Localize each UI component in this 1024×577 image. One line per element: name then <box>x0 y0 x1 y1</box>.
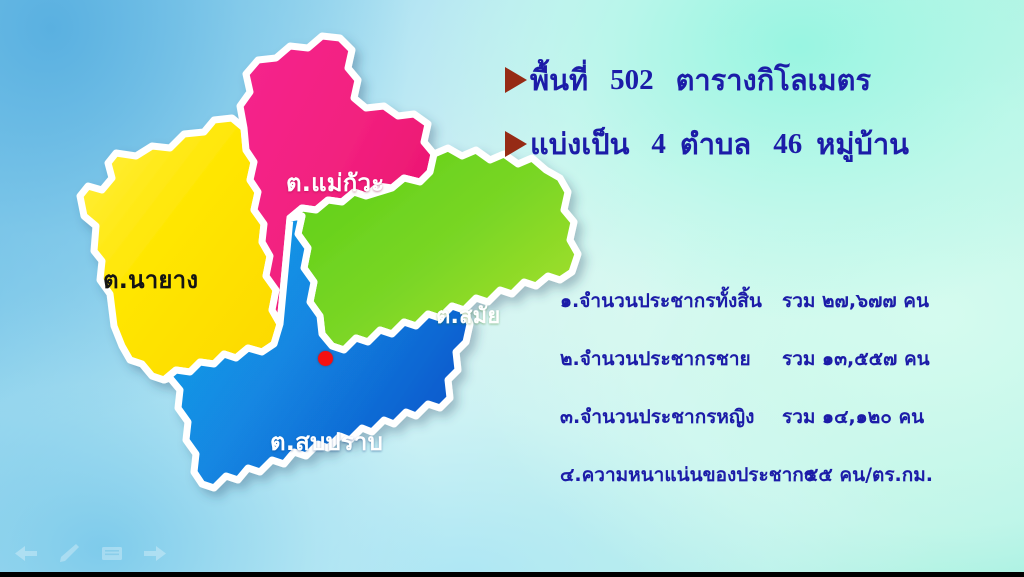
divisions-label: แบ่งเป็น <box>530 121 629 167</box>
location-marker-icon <box>318 351 333 366</box>
pen-tool-button[interactable] <box>57 543 81 563</box>
village-unit: หมู่บ้าน <box>816 121 909 167</box>
village-count: 46 <box>773 128 802 161</box>
stat-label-total-population: ๑.จำนวนประชากรทั้งสิ้น <box>560 286 782 316</box>
stat-value-population-density: ๕๕ คน/ตร.กม. <box>804 460 933 490</box>
area-label: พื้นที่ <box>530 57 588 103</box>
arrow-left-icon <box>14 543 38 563</box>
map-regions-group <box>80 36 578 488</box>
subdistrict-unit: ตำบล <box>680 121 751 167</box>
stat-label-female-population: ๓.จำนวนประชากรหญิง <box>560 402 782 432</box>
population-statistics: ๑.จำนวนประชากรทั้งสิ้น รวม ๒๗,๖๗๗ คน ๒.จ… <box>560 286 933 518</box>
stat-value-female-population: รวม ๑๔,๑๒๐ คน <box>782 402 924 432</box>
triangle-bullet-icon <box>505 131 527 157</box>
stat-row: ๓.จำนวนประชากรหญิง รวม ๑๔,๑๒๐ คน <box>560 402 933 460</box>
triangle-bullet-icon <box>505 67 527 93</box>
headline-row-area: พื้นที่ 502 ตารางกิโลเมตร <box>505 57 909 103</box>
presentation-controls <box>14 543 167 563</box>
menu-icon <box>100 543 124 563</box>
headline-block: พื้นที่ 502 ตารางกิโลเมตร แบ่งเป็น 4 ตำบ… <box>505 57 909 185</box>
headline-row-divisions: แบ่งเป็น 4 ตำบล 46 หมู่บ้าน <box>505 121 909 167</box>
stat-label-population-density: ๔.ความหนาแน่นของประชากร <box>560 460 804 490</box>
stat-label-male-population: ๒.จำนวนประชากรชาย <box>560 344 782 374</box>
area-value: 502 <box>610 64 654 97</box>
stat-row: ๑.จำนวนประชากรทั้งสิ้น รวม ๒๗,๖๗๗ คน <box>560 286 933 344</box>
stat-value-total-population: รวม ๒๗,๖๗๗ คน <box>782 286 929 316</box>
presentation-slide: ต.นายาง ต.แม่กัวะ ต.สมัย ต.สบปราบ พื้นที… <box>0 0 1024 577</box>
next-slide-button[interactable] <box>143 543 167 563</box>
slide-menu-button[interactable] <box>100 543 124 563</box>
area-unit: ตารางกิโลเมตร <box>676 57 871 103</box>
previous-slide-button[interactable] <box>14 543 38 563</box>
pen-icon <box>57 543 81 563</box>
subdistrict-count: 4 <box>651 128 666 161</box>
stat-row: ๒.จำนวนประชากรชาย รวม ๑๓,๕๕๗ คน <box>560 344 933 402</box>
stat-value-male-population: รวม ๑๓,๕๕๗ คน <box>782 344 930 374</box>
stat-row: ๔.ความหนาแน่นของประชากร ๕๕ คน/ตร.กม. <box>560 460 933 518</box>
arrow-right-icon <box>143 543 167 563</box>
